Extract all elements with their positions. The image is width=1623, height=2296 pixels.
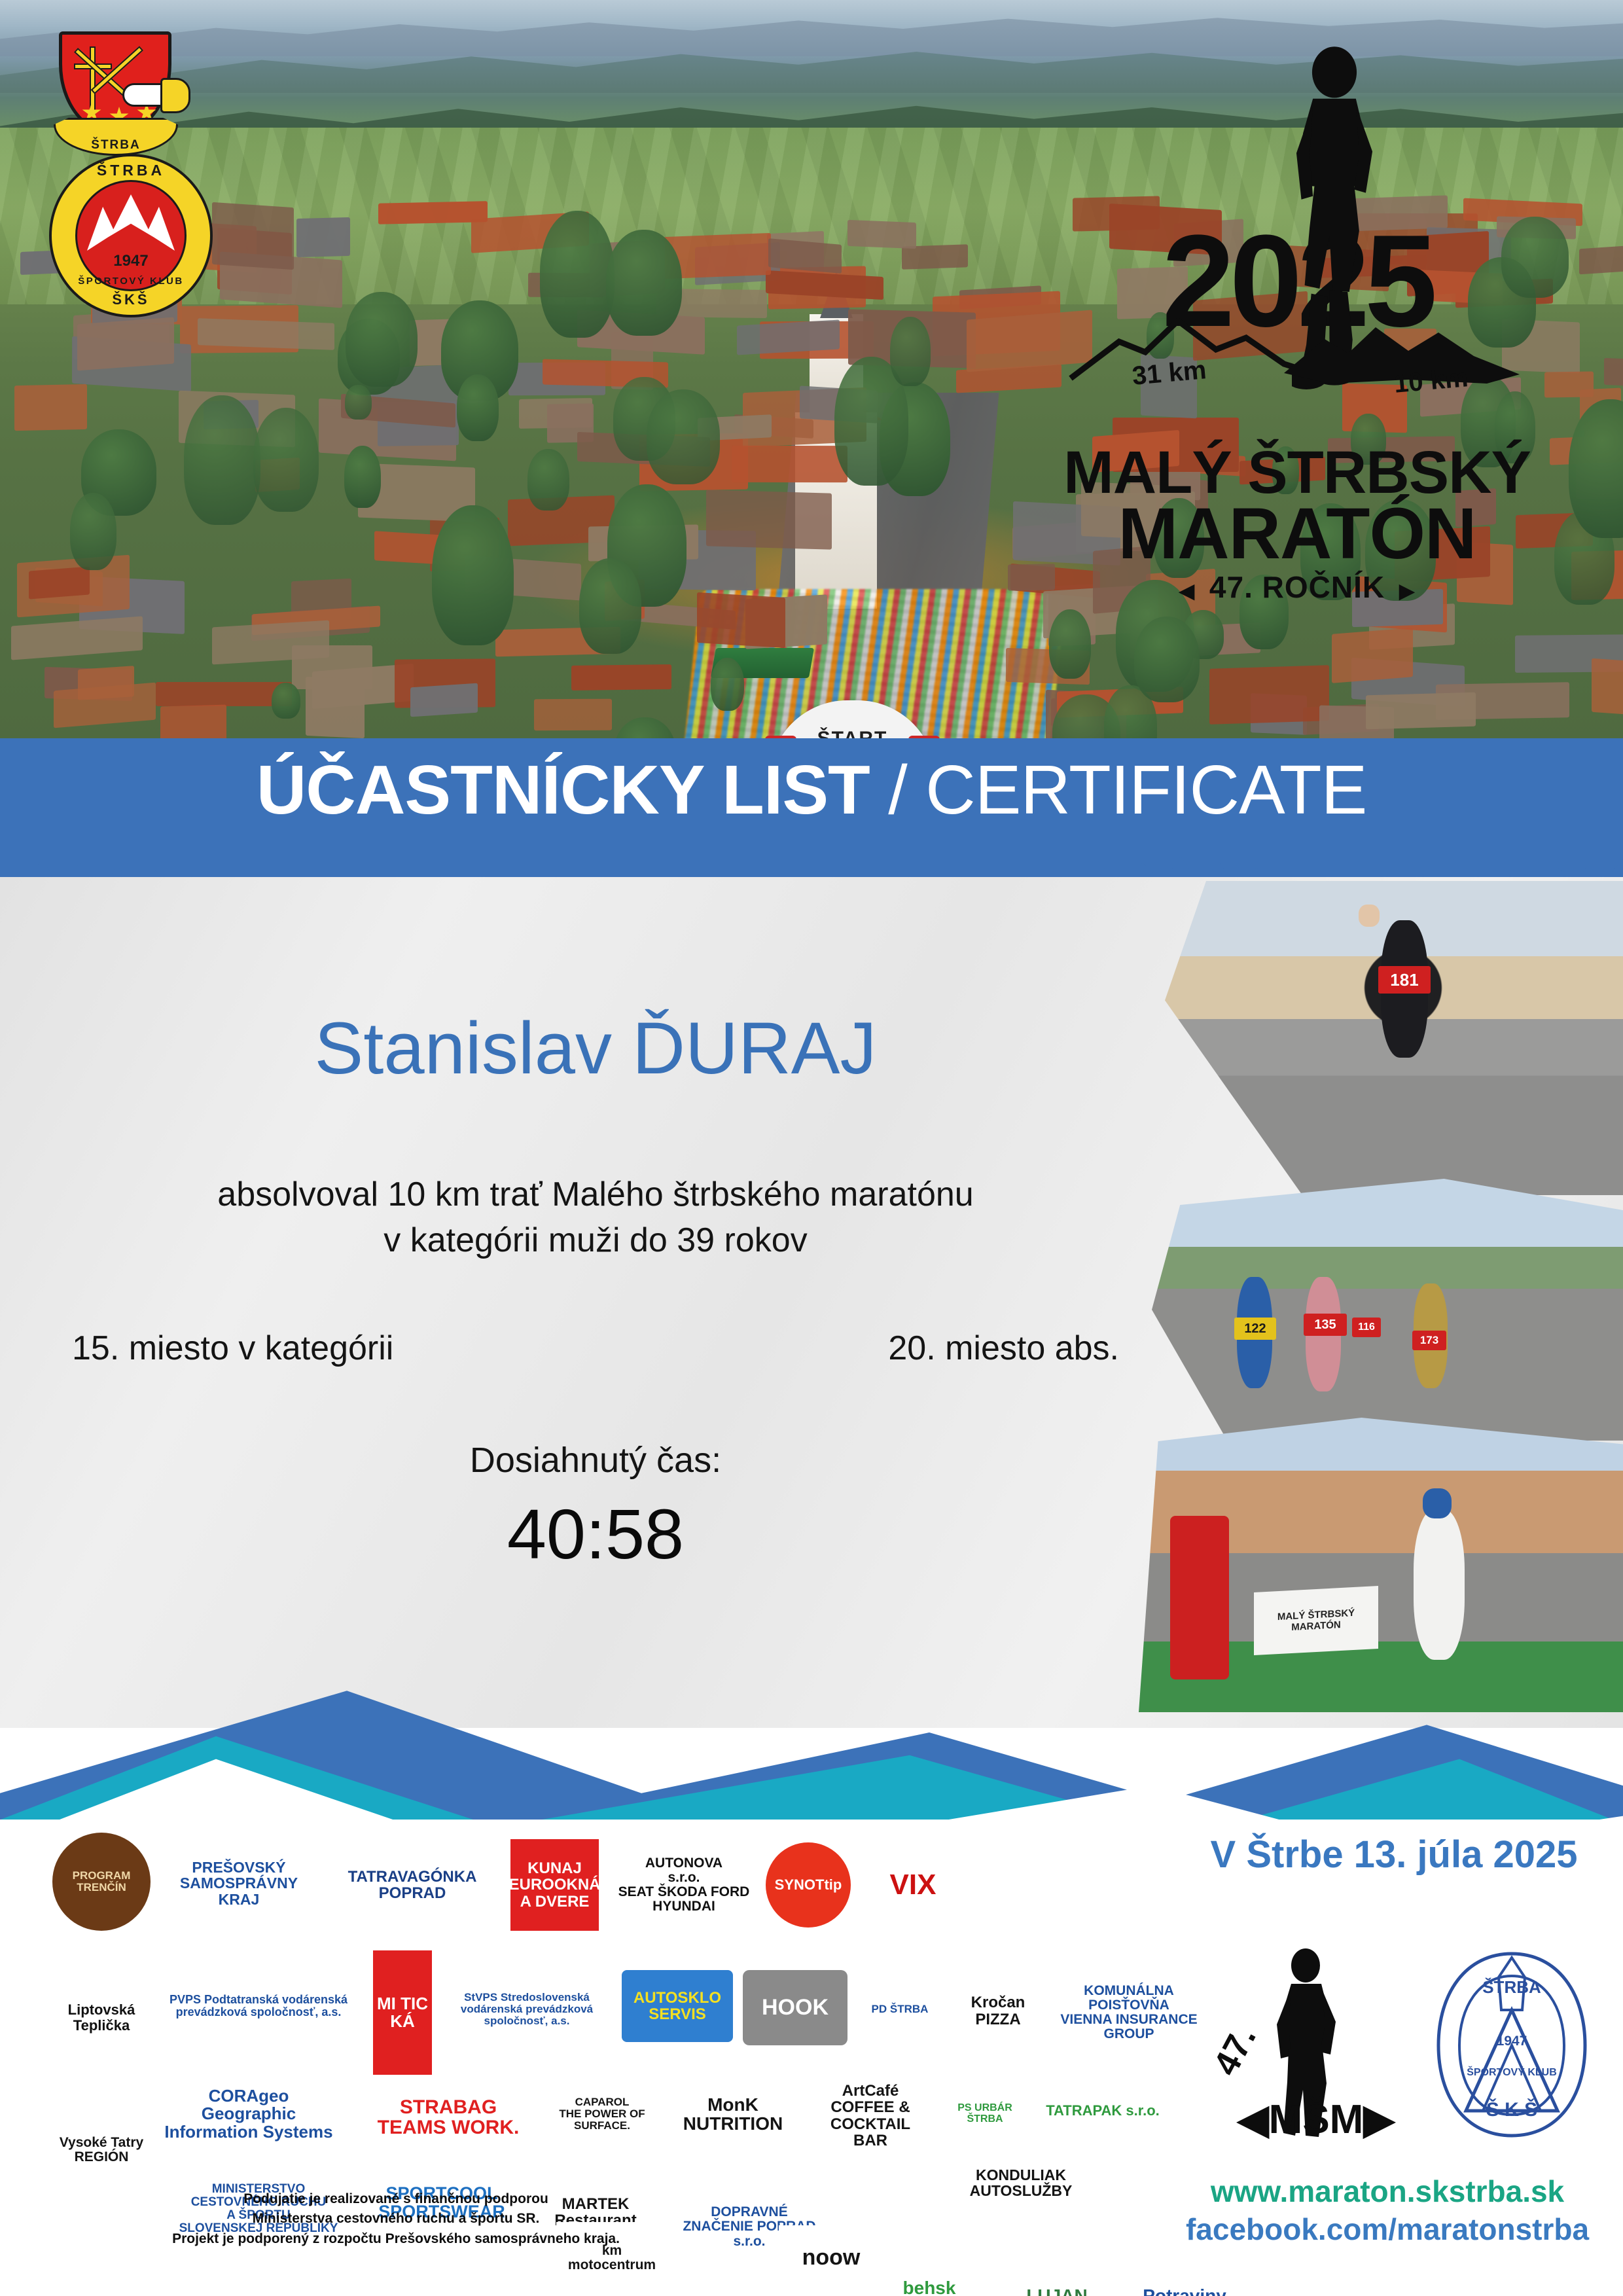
svg-text:Š K Š: Š K Š [1486,2098,1537,2121]
rooftop [212,620,329,664]
sponsor-name: TATRAVAGÓNKA POPRAD [348,1869,477,1901]
sponsor-logo: ArtCafé COFFEE & COCKTAIL BAR [811,2075,929,2157]
rooftop [847,220,916,249]
tree [344,446,381,508]
sponsor-name: KONDULIAK AUTOSLUŽBY [970,2167,1073,2198]
svg-text:47.: 47. [1207,2020,1264,2081]
sponsor-logo: PREŠOVSKÝ SAMOSPRÁVNY KRAJ [164,1846,314,1921]
club-logo-middle-text: ŠPORTOVÝ KLUB [49,276,213,287]
sponsor-logo: HOOK [743,1970,847,2045]
sponsor-logo: VIX [867,1838,959,1933]
sponsor-name: MI TIC KÁ [373,1995,432,2031]
club-logo-year: 1947 [49,252,213,270]
rooftop [768,238,842,274]
club-seal-footer: ŠTRBA 1947 ŠPORTOVÝ KLUB Š K Š [1427,1947,1597,2144]
sponsor-name: ArtCafé COFFEE & COCKTAIL BAR [811,2083,929,2149]
sponsor-name: STRABAG TEAMS WORK. [378,2097,520,2138]
sports-club-logo: ŠTRBA 1947 ŠPORTOVÝ KLUB ŠKŠ [49,154,213,317]
svg-text:ŠTRBA: ŠTRBA [1482,1977,1541,1997]
banner-title: ÚČASTNÍCKY LIST / CERTIFICATE [0,755,1623,825]
coat-of-arms-ribbon: ŠTRBA [54,118,178,156]
event-date: V Štrbe 13. júla 2025 [1165,1833,1623,1876]
sponsor-logo: AUTONOVA s.r.o. SEAT ŠKODA FORD HYUNDAI [615,1842,753,1928]
tree [345,385,372,420]
tree [184,395,260,524]
placement-row: 15. miesto v kategórii 20. miesto abs. [72,1329,1119,1368]
rooftop [212,202,294,270]
tree [272,683,300,719]
sponsor-logo: StVPS Stredoslovenská vodárenská prevádz… [445,1960,609,2058]
sponsor-logo: KUNAJ EUROOKNÁ A DVERE [510,1839,599,1931]
sponsor-name: PROGRAM TRENČÍN [73,1870,131,1893]
sponsor-logo: MonK NUTRITION [674,2078,792,2150]
bib-number-122: 122 [1234,1318,1276,1340]
sponsor-logo: CORAgeo Geographic Information Systems [160,2075,337,2153]
strba-coat-of-arms: ŠTRBA [54,31,178,162]
sponsor-name: LUJAN Plus s.r.o. [1014,2286,1100,2296]
rooftop [1209,665,1329,724]
coat-of-arms-label: ŠTRBA [56,138,176,152]
rooftop [1332,628,1413,683]
club-logo-top-text: ŠTRBA [49,162,213,179]
contact-links: www.maraton.skstrba.sk facebook.com/mara… [1152,2173,1623,2248]
rooftop [1579,241,1623,274]
tree [432,505,514,645]
sponsor-name: Kročan PIZZA [971,1994,1026,2027]
facebook-link[interactable]: facebook.com/maratonstrba [1152,2211,1623,2249]
description-line-1: absolvoval 10 km trať Malého štrbského m… [59,1172,1132,1217]
tree [890,317,931,386]
sponsor-logo: Kročan PIZZA [952,1967,1044,2055]
svg-text:1947: 1947 [1497,2034,1527,2049]
rooftop [29,566,90,599]
emblem-title-line2: MARATÓN [1035,492,1559,575]
bib-number-135: 135 [1304,1314,1347,1336]
photo-finish-line-winner: MALÝ ŠTRBSKÝ MARATÓN [1139,1418,1623,1712]
tree [579,558,641,654]
achievement-description: absolvoval 10 km trať Malého štrbského m… [59,1172,1132,1263]
sponsor-logo: behsk Web, ktorý vás rozhýbe [864,2278,995,2296]
rooftop [198,319,334,350]
funding-note-line-2: Ministerstva cestovného ruchu a športu S… [39,2209,753,2229]
sponsor-name: TATRAPAK s.r.o. [1046,2103,1160,2118]
svg-text:◀MŠM▶: ◀MŠM▶ [1236,2097,1396,2142]
bib-number-181: 181 [1378,966,1431,994]
emblem-edition: 47. ROČNÍK [1035,569,1559,605]
sponsor-name: SYNOTtip [775,1877,842,1892]
photo-runners-on-hill: 122 135 116 173 [1152,1179,1623,1441]
tree [253,408,319,512]
funding-note-line-1: Podujatie je realizované s finančnou pod… [39,2189,753,2209]
sponsor-logo: KOMUNÁLNA POISŤOVŇA VIENNA INSURANCE GRO… [1054,1970,1204,2055]
sponsor-name: PD ŠTRBA [872,2003,929,2015]
sponsor-logo-grid: PROGRAM TRENČÍNPREŠOVSKÝ SAMOSPRÁVNY KRA… [39,1820,1165,2225]
rooftop [14,384,87,431]
sponsor-logo: MI TIC KÁ [373,1950,432,2075]
sponsor-logo: Potraviny ŠERFEL [1119,2271,1250,2296]
photo-finishing-runner: 181 [1165,881,1623,1195]
sponsor-logo: Liptovská Teplička [52,1954,151,2081]
banner-title-regular: / CERTIFICATE [870,751,1366,829]
rooftop [1604,358,1623,389]
rooftop [737,319,840,355]
sponsor-name: behsk Web, ktorý vás rozhýbe [864,2278,995,2296]
sponsor-logo: SYNOTtip [766,1842,851,1928]
sponsor-logo: pretekaj.sk [694,2278,857,2296]
svg-text:ŠPORTOVÝ KLUB: ŠPORTOVÝ KLUB [1467,2066,1557,2078]
sponsor-logo: PROGRAM TRENČÍN [52,1833,151,1931]
sponsor-logo: PVPS Podtatranská vodárenská prevádzková… [164,1960,353,2052]
tree [647,389,720,484]
rooftop [296,217,350,257]
sponsor-name: Potraviny ŠERFEL [1143,2286,1226,2296]
rooftop [571,664,671,690]
rooftop [732,446,847,483]
website-link[interactable]: www.maraton.skstrba.sk [1152,2173,1623,2211]
hero-photo-village-aerial: ŠTART ŠTRBA [0,0,1623,743]
sponsor-name: CORAgeo Geographic Information Systems [160,2087,337,2141]
tree [540,211,615,338]
banner-title-bold: ÚČASTNÍCKY LIST [257,751,870,829]
sponsor-logo: CAPAROL THE POWER OF SURFACE. [550,2072,654,2157]
tree [711,658,744,711]
rooftop [378,201,488,224]
tree [1049,609,1091,679]
rooftop [410,683,478,717]
tree [527,449,569,511]
rooftop [306,677,365,739]
sponsor-name: StVPS Stredoslovenská vodárenská prevádz… [445,1992,609,2027]
sponsor-name: MonK NUTRITION [683,2095,783,2134]
sponsor-name: PS URBÁR ŠTRBA [957,2103,1012,2125]
sponsor-logo: TATRAVAGÓNKA POPRAD [330,1849,494,1921]
emblem-distance-10km: 10 km [1393,363,1469,399]
marathon-emblem: 2025 [1009,26,1585,602]
sponsor-name: PVPS Podtatranská vodárenská prevádzková… [164,1994,353,2018]
sponsor-name: noow [802,2246,861,2270]
sponsor-name: AUTONOVA s.r.o. SEAT ŠKODA FORD HYUNDAI [615,1856,753,1914]
rooftop [706,490,832,549]
tree [346,292,418,387]
sponsor-logo: STRABAG TEAMS WORK. [373,2081,524,2153]
sponsor-name: KUNAJ EUROOKNÁ A DVERE [510,1860,599,1910]
description-line-2: v kategórii muži do 39 rokov [59,1217,1132,1263]
sponsor-name: PREŠOVSKÝ SAMOSPRÁVNY KRAJ [180,1859,298,1907]
rooftop [534,699,612,731]
sponsor-logo: LUJAN Plus s.r.o. [1001,2271,1113,2296]
participant-name: Stanislav ĎURAJ [65,1008,1126,1088]
rooftop [1366,692,1476,729]
rooftop [1592,658,1623,715]
tree [70,493,117,571]
absolute-place: 20. miesto abs. [888,1329,1119,1368]
rooftop [697,592,785,648]
sponsor-name: AUTOSKLO SERVIS [633,1990,721,2022]
tree [1134,617,1200,702]
finish-line-banner: MALÝ ŠTRBSKÝ MARATÓN [1254,1586,1378,1655]
sponsor-name: HOOK [762,1996,829,2020]
finish-time-value: 40:58 [59,1499,1132,1570]
rooftop [78,666,134,700]
sponsor-name: Liptovská Teplička [68,2002,135,2032]
sponsor-name: Vysoké Tatry REGIÓN [60,2136,143,2164]
sleeve-shape [160,78,190,113]
rooftop [160,704,226,743]
sponsor-logo: AUTOSKLO SERVIS [622,1970,733,2042]
photo-collage: 181 122 135 116 173 MALÝ ŠTRBSKÝ MARATÓN [1126,881,1623,1712]
sponsor-logo: PS URBÁR ŠTRBA [946,2068,1024,2160]
rooftop [77,317,174,371]
category-place: 15. miesto v kategórii [72,1329,393,1368]
bib-number-173: 173 [1412,1331,1446,1350]
sponsor-name: VIX [890,1870,936,1900]
rooftop [11,617,143,661]
sponsor-name: CAPAROL THE POWER OF SURFACE. [550,2096,654,2132]
certificate-page: ŠTART ŠTRBA [0,0,1623,2296]
club-logo-bottom-text: ŠKŠ [49,291,213,308]
sponsor-name: KOMUNÁLNA POISŤOVŇA VIENNA INSURANCE GRO… [1054,1984,1204,2041]
funding-note-line-3: Projekt je podporený z rozpočtu Prešovsk… [39,2229,753,2249]
tree [606,230,682,336]
sponsor-logo: KONDULIAK AUTOSLUŽBY [955,2147,1086,2219]
funding-note: Podujatie je realizované s finančnou pod… [39,2189,753,2249]
msm-47-logo: 47. ◀MŠM▶ [1207,1947,1397,2150]
tree [457,374,499,441]
sponsor-logo: PD ŠTRBA [857,1967,942,2052]
finish-time-label: Dosiahnutý čas: [59,1440,1132,1480]
sponsor-logo: TATRAPAK s.r.o. [1037,2075,1168,2147]
bib-number-116: 116 [1352,1318,1381,1337]
